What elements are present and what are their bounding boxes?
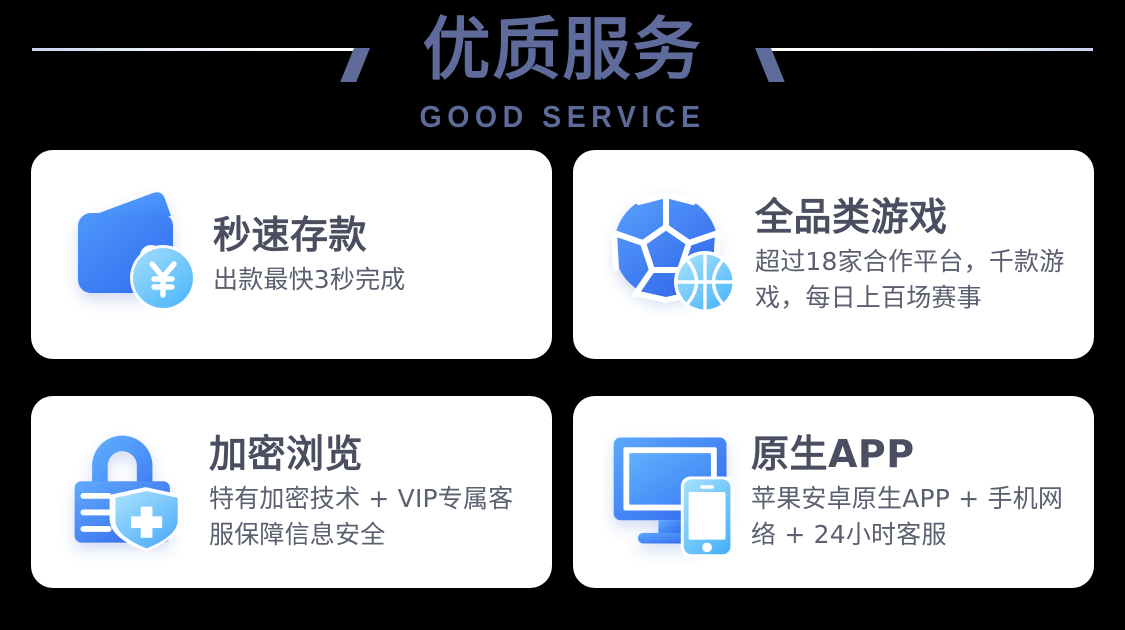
banner-header: 优质服务 GOOD SERVICE xyxy=(0,0,1125,142)
feature-card-title: 秒速存款 xyxy=(213,212,536,258)
feature-card-deposit[interactable]: 秒速存款 出款最快3秒完成 xyxy=(31,150,552,359)
feature-card-encryption-text: 加密浏览 特有加密技术 + VIP专属客服保障信息安全 xyxy=(209,431,552,553)
feature-card-grid: 秒速存款 出款最快3秒完成 xyxy=(31,150,1094,588)
feature-card-native-app[interactable]: 原生APP 苹果安卓原生APP + 手机网络 + 24小时客服 xyxy=(573,396,1094,588)
feature-card-subtitle: 苹果安卓原生APP + 手机网络 + 24小时客服 xyxy=(751,481,1078,553)
soccer-basketball-icon xyxy=(603,182,749,328)
feature-card-games[interactable]: 全品类游戏 超过18家合作平台，千款游戏，每日上百场赛事 xyxy=(573,150,1094,359)
monitor-phone-icon xyxy=(603,421,745,563)
wallet-yen-icon xyxy=(61,182,207,328)
feature-card-encryption[interactable]: 加密浏览 特有加密技术 + VIP专属客服保障信息安全 xyxy=(31,396,552,588)
feature-card-subtitle: 特有加密技术 + VIP专属客服保障信息安全 xyxy=(209,481,536,553)
feature-card-games-text: 全品类游戏 超过18家合作平台，千款游戏，每日上百场赛事 xyxy=(755,194,1094,316)
feature-card-subtitle: 超过18家合作平台，千款游戏，每日上百场赛事 xyxy=(755,244,1078,316)
feature-card-title: 加密浏览 xyxy=(209,431,536,477)
promo-banner: 优质服务 GOOD SERVICE xyxy=(0,0,1125,630)
page-subtitle: GOOD SERVICE xyxy=(45,100,1080,134)
feature-card-subtitle: 出款最快3秒完成 xyxy=(213,262,536,298)
lock-shield-icon xyxy=(61,421,203,563)
page-title: 优质服务 xyxy=(0,8,1125,94)
feature-card-deposit-text: 秒速存款 出款最快3秒完成 xyxy=(213,212,552,298)
feature-card-native-app-text: 原生APP 苹果安卓原生APP + 手机网络 + 24小时客服 xyxy=(751,431,1094,553)
feature-card-title: 全品类游戏 xyxy=(755,194,1078,240)
feature-card-title: 原生APP xyxy=(751,431,1078,477)
